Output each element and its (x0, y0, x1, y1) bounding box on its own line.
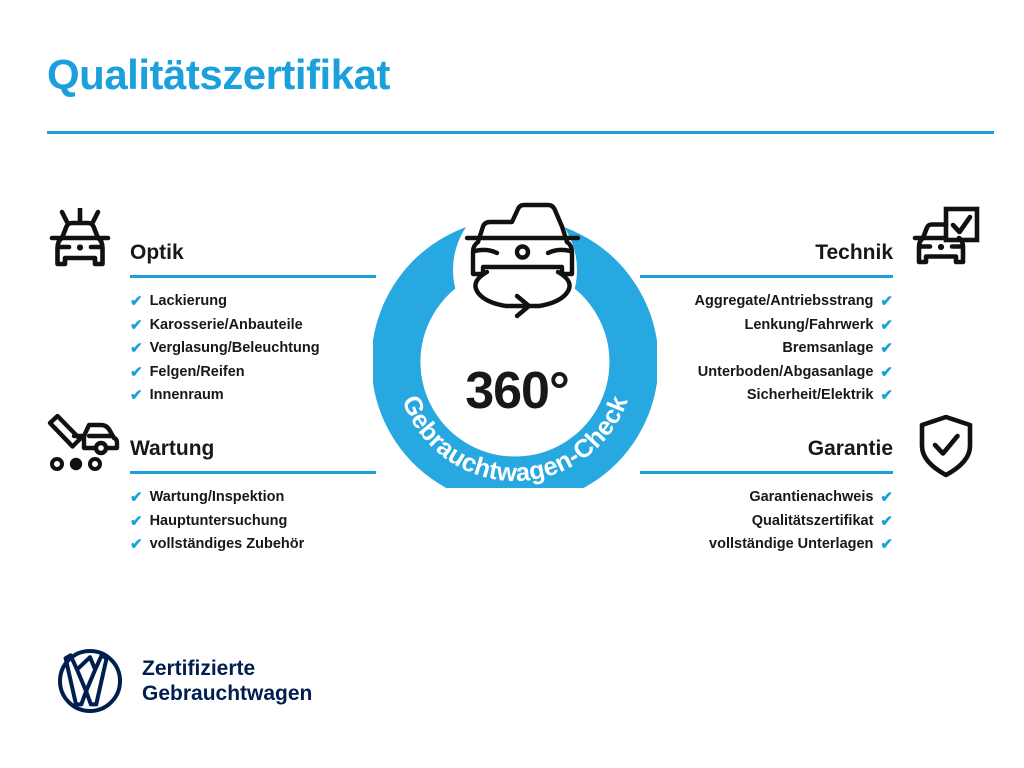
list-item: Garantienachweis✔ (640, 486, 893, 510)
list-item-label: Karosserie/Anbauteile (150, 314, 303, 338)
section-wartung-title: Wartung (130, 434, 376, 464)
section-optik-list: ✔Lackierung ✔Karosserie/Anbauteile ✔Verg… (130, 290, 376, 408)
list-item-label: Qualitätszertifikat (752, 510, 874, 534)
list-item-label: vollständiges Zubehör (150, 533, 305, 557)
list-item: ✔vollständiges Zubehör (130, 533, 376, 557)
badge-360-gebrauchtwagen-check: Gebrauchtwagen-Check 360° (373, 192, 657, 488)
list-item: ✔Wartung/Inspektion (130, 486, 376, 510)
section-optik-header: Optik (130, 238, 376, 278)
list-item: ✔Karosserie/Anbauteile (130, 314, 376, 338)
list-item-label: Unterboden/Abgasanlage (698, 361, 874, 385)
list-item: Bremsanlage✔ (640, 337, 893, 361)
list-item-label: Wartung/Inspektion (150, 486, 285, 510)
check-icon: ✔ (130, 294, 143, 309)
section-technik-title: Technik (640, 238, 893, 268)
list-item: ✔Hauptuntersuchung (130, 510, 376, 534)
list-item: Qualitätszertifikat✔ (640, 510, 893, 534)
list-item-label: Innenraum (150, 384, 224, 408)
section-technik-divider (640, 275, 893, 278)
list-item-label: Hauptuntersuchung (150, 510, 288, 534)
section-wartung: Wartung ✔Wartung/Inspektion ✔Hauptunters… (130, 434, 376, 557)
section-wartung-list: ✔Wartung/Inspektion ✔Hauptuntersuchung ✔… (130, 486, 376, 557)
section-optik-divider (130, 275, 376, 278)
list-item: ✔Verglasung/Beleuchtung (130, 337, 376, 361)
section-wartung-divider (130, 471, 376, 474)
section-garantie: Garantie Garantienachweis✔ Qualitätszert… (640, 434, 893, 557)
car-checkbox-icon (912, 206, 980, 275)
list-item: ✔Felgen/Reifen (130, 361, 376, 385)
list-item-label: Garantienachweis (749, 486, 873, 510)
section-optik-title: Optik (130, 238, 376, 268)
section-garantie-title: Garantie (640, 434, 893, 464)
section-optik: Optik ✔Lackierung ✔Karosserie/Anbauteile… (130, 238, 376, 408)
list-item-label: Felgen/Reifen (150, 361, 245, 385)
check-icon: ✔ (130, 537, 143, 552)
check-icon: ✔ (130, 318, 143, 333)
list-item: Sicherheit/Elektrik✔ (640, 384, 893, 408)
section-garantie-header: Garantie (640, 434, 893, 474)
list-item-label: Sicherheit/Elektrik (747, 384, 874, 408)
section-technik: Technik Aggregate/Antriebsstrang✔ Lenkun… (640, 238, 893, 408)
list-item: ✔Innenraum (130, 384, 376, 408)
page-title: Qualitätszertifikat (47, 52, 390, 98)
check-icon: ✔ (130, 490, 143, 505)
section-garantie-list: Garantienachweis✔ Qualitätszertifikat✔ v… (640, 486, 893, 557)
certificate-page: Qualitätszertifikat (0, 0, 1024, 768)
list-item-label: Lenkung/Fahrwerk (745, 314, 874, 338)
shield-check-icon (918, 414, 974, 483)
section-wartung-header: Wartung (130, 434, 376, 474)
check-icon: ✔ (880, 490, 893, 505)
section-technik-list: Aggregate/Antriebsstrang✔ Lenkung/Fahrwe… (640, 290, 893, 408)
section-garantie-divider (640, 471, 893, 474)
list-item: Aggregate/Antriebsstrang✔ (640, 290, 893, 314)
logo-line-2: Gebrauchtwagen (142, 681, 312, 706)
check-icon: ✔ (880, 365, 893, 380)
check-icon: ✔ (880, 294, 893, 309)
logo-wordmark: Zertifizierte Gebrauchtwagen (142, 656, 312, 706)
list-item-label: Lackierung (150, 290, 227, 314)
list-item: Lenkung/Fahrwerk✔ (640, 314, 893, 338)
check-icon: ✔ (130, 388, 143, 403)
section-technik-header: Technik (640, 238, 893, 278)
header-divider (47, 131, 994, 134)
check-icon: ✔ (880, 388, 893, 403)
check-icon: ✔ (880, 318, 893, 333)
list-item: Unterboden/Abgasanlage✔ (640, 361, 893, 385)
car-front-shine-icon (44, 208, 116, 275)
check-icon: ✔ (880, 537, 893, 552)
list-item-label: Verglasung/Beleuchtung (150, 337, 320, 361)
logo-line-1: Zertifizierte (142, 656, 312, 681)
list-item-label: Aggregate/Antriebsstrang (695, 290, 874, 314)
check-icon: ✔ (880, 341, 893, 356)
list-item: vollständige Unterlagen✔ (640, 533, 893, 557)
volkswagen-logo: Zertifizierte Gebrauchtwagen (57, 648, 312, 714)
check-icon: ✔ (130, 365, 143, 380)
list-item-label: vollständige Unterlagen (709, 533, 873, 557)
list-item-label: Bremsanlage (782, 337, 873, 361)
check-icon: ✔ (130, 341, 143, 356)
check-icon: ✔ (130, 514, 143, 529)
pencil-car-service-icon (44, 414, 120, 477)
check-icon: ✔ (880, 514, 893, 529)
vw-roundel-icon (57, 648, 123, 714)
list-item: ✔Lackierung (130, 290, 376, 314)
